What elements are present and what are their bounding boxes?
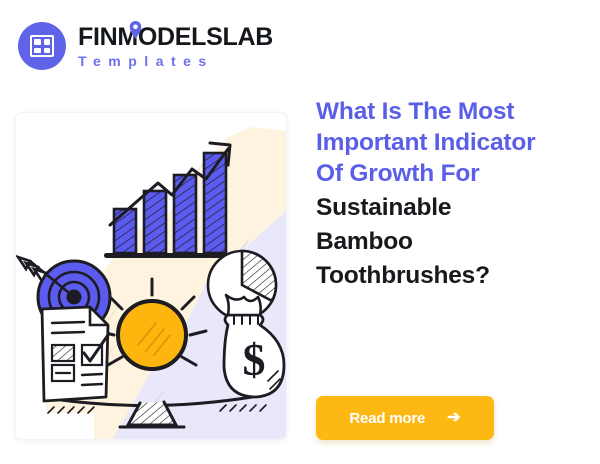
headline-accent-line-1: What Is The Most [316, 96, 584, 127]
page-title: What Is The Most Important Indicator Of … [316, 96, 584, 291]
money-bag-symbol: $ [243, 334, 266, 385]
promo-banner: FINMODELSLAB Templates [0, 0, 600, 464]
read-more-button[interactable]: Read more ➔ [316, 396, 494, 440]
grid-cell [44, 39, 51, 45]
brand-title: FINMODELSLAB [78, 25, 273, 50]
grid-cell [34, 39, 41, 45]
grid-cell [34, 48, 41, 54]
read-more-label: Read more [349, 410, 425, 427]
illustration-card: $ [15, 112, 287, 440]
business-growth-illustration: $ [16, 113, 287, 440]
headline-accent-line-2: Important Indicator [316, 127, 584, 158]
grid-cell [44, 48, 51, 54]
grid-squares-glyph [30, 35, 54, 57]
grid-squares-icon [18, 22, 66, 70]
brand-subtitle: Templates [78, 54, 273, 68]
headline-dark-line-3: Toothbrushes? [316, 260, 584, 291]
arrow-right-icon: ➔ [447, 410, 460, 426]
brand-logo[interactable]: FINMODELSLAB Templates [18, 22, 273, 70]
headline-dark-line-2: Bamboo [316, 226, 584, 257]
headline-dark-line-1: Sustainable [316, 192, 584, 223]
brand-logo-text: FINMODELSLAB Templates [78, 25, 273, 68]
headline-accent-line-3: Of Growth For [316, 158, 584, 189]
checklist-document-icon [42, 307, 108, 413]
